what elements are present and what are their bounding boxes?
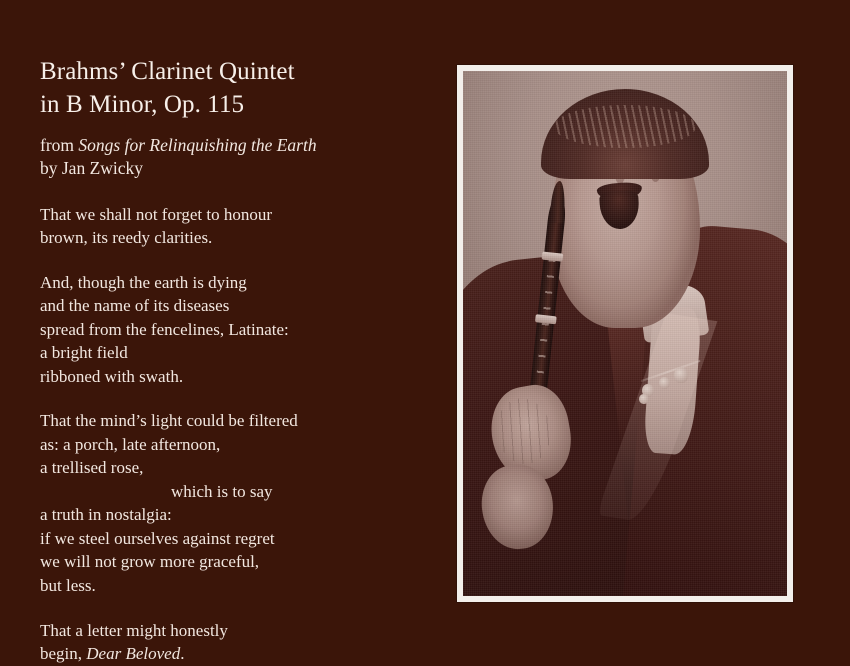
portrait-photograph: [463, 71, 787, 596]
poem-line: but less.: [40, 574, 430, 598]
poem-line-final: begin, Dear Beloved.: [40, 642, 430, 666]
poem-line: That a letter might honestly: [40, 619, 430, 643]
title-line-2: in B Minor, Op. 115: [40, 89, 430, 122]
poem-line: and the name of its diseases: [40, 294, 430, 318]
poem-line: That the mind’s light could be filtered: [40, 409, 430, 433]
poem-line: we will not grow more graceful,: [40, 550, 430, 574]
beard: [599, 190, 640, 230]
hair: [541, 89, 709, 178]
poem-line: And, though the earth is dying: [40, 271, 430, 295]
stanza-3: That the mind’s light could be filtered …: [40, 409, 430, 597]
poem-line: spread from the fencelines, Latinate:: [40, 318, 430, 342]
poem-line: That we shall not forget to honour: [40, 203, 430, 227]
attribution: from Songs for Relinquishing the Earth b…: [40, 134, 430, 181]
salutation-emphasis: Dear Beloved: [86, 644, 180, 663]
medal-charm: [639, 394, 648, 404]
line-tail: .: [180, 644, 184, 663]
poem-line-indented: which is to say: [40, 480, 430, 504]
poem-broadside: Brahms’ Clarinet Quintet in B Minor, Op.…: [0, 0, 850, 657]
line-head: begin,: [40, 644, 86, 663]
stanza-1: That we shall not forget to honour brown…: [40, 203, 430, 250]
photograph-frame: [457, 65, 793, 602]
poem-line: ribboned with swath.: [40, 365, 430, 389]
medal-charm: [659, 377, 670, 389]
author-line: by Jan Zwicky: [40, 157, 430, 180]
source-title: Songs for Relinquishing the Earth: [78, 135, 316, 155]
clarinet-mouthpiece: [550, 180, 566, 222]
poem-line: as: a porch, late afternoon,: [40, 433, 430, 457]
poem-text-column: Brahms’ Clarinet Quintet in B Minor, Op.…: [40, 56, 430, 666]
poem-body: That we shall not forget to honour brown…: [40, 203, 430, 666]
poem-line: a trellised rose,: [40, 456, 430, 480]
medal-chain: [638, 362, 709, 409]
source-prefix: from: [40, 135, 78, 155]
medal-charm: [674, 367, 688, 383]
title-line-1: Brahms’ Clarinet Quintet: [40, 56, 430, 89]
stanza-2: And, though the earth is dying and the n…: [40, 271, 430, 389]
stanza-4: That a letter might honestly begin, Dear…: [40, 619, 430, 666]
page-title: Brahms’ Clarinet Quintet in B Minor, Op.…: [40, 56, 430, 121]
poem-line: brown, its reedy clarities.: [40, 226, 430, 250]
chain-link: [641, 360, 701, 382]
poem-line: a truth in nostalgia:: [40, 503, 430, 527]
source-line: from Songs for Relinquishing the Earth: [40, 134, 430, 157]
poem-line: if we steel ourselves against regret: [40, 527, 430, 551]
poem-line: a bright field: [40, 341, 430, 365]
